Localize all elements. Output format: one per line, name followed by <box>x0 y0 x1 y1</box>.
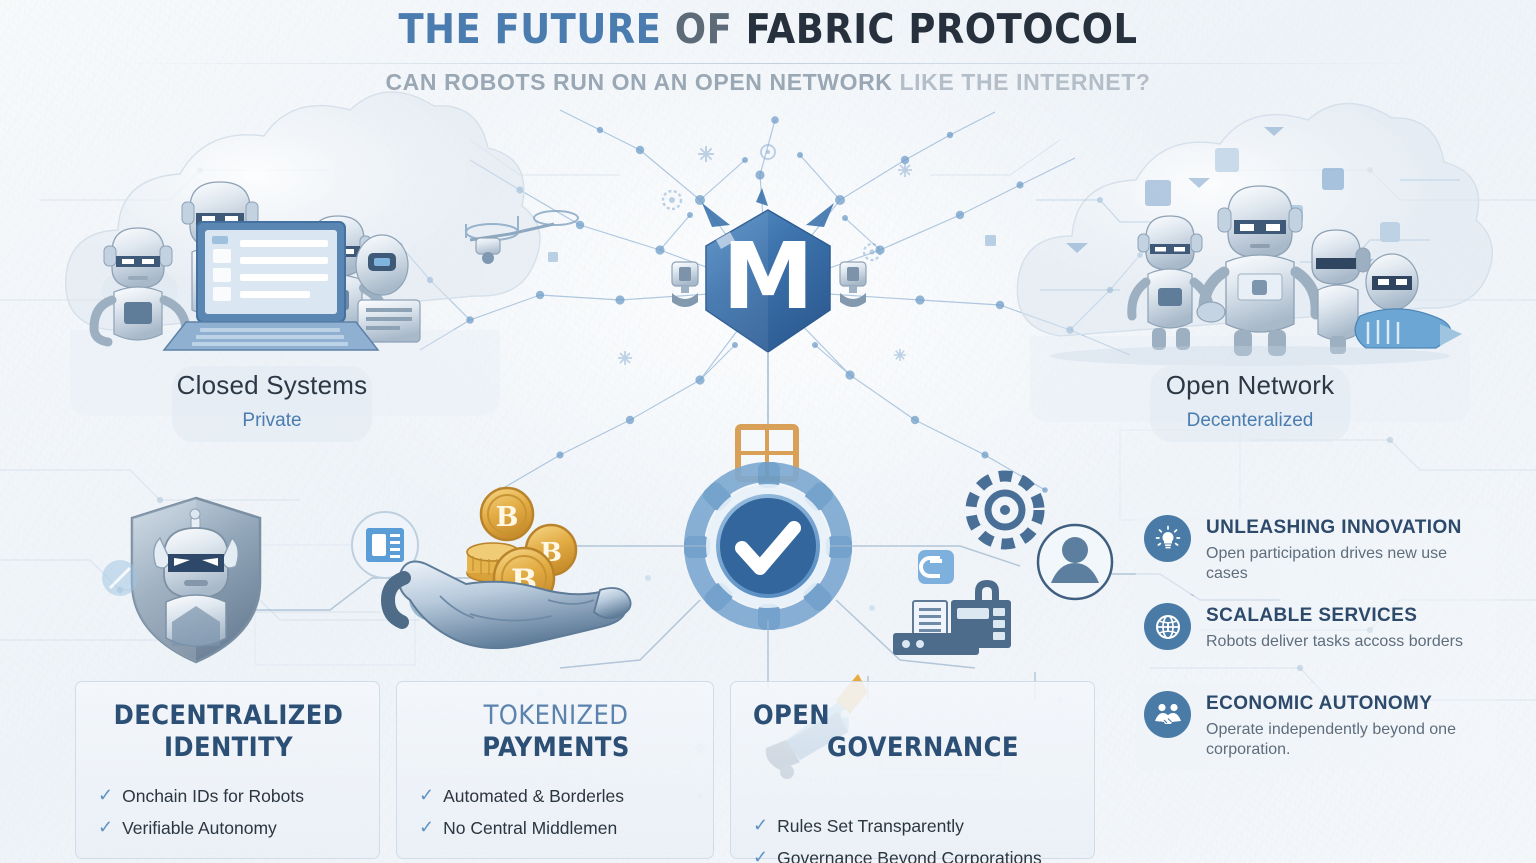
header: THE FUTURE OF FABRIC PROTOCOL CAN ROBOTS… <box>0 6 1536 96</box>
node-robot-right <box>840 262 866 307</box>
orange-window-grid-icon <box>738 427 796 479</box>
fabric-protocol-logo: M <box>702 188 834 352</box>
check-icon: ✓ <box>98 818 113 838</box>
bullet-text: Onchain IDs for Robots <box>122 786 304 807</box>
card-tokenized-payments[interactable]: TOKENIZED PAYMENTS ✓ Automated & Borderl… <box>396 681 714 859</box>
checkmark-icon <box>742 528 794 568</box>
subtitle-strong: CAN ROBOTS RUN ON AN OPEN NETWORK <box>385 69 892 95</box>
card-open-governance[interactable]: OPEN GOVERNANCE ✓ Rules Set Transparentl… <box>730 681 1095 859</box>
bullet-text: Rules Set Transparently <box>777 816 964 837</box>
feature-heading: ECONOMIC AUTONOMY <box>1206 693 1474 715</box>
server-briefcase-icon <box>893 580 1011 655</box>
title-part-of: OF <box>675 5 733 53</box>
bullet-text: No Central Middlemen <box>443 818 617 839</box>
feature-text: ECONOMIC AUTONOMY Operate independently … <box>1206 691 1474 761</box>
title-part-fabric: FABRIC PROTOCOL <box>746 5 1138 53</box>
contract-badge-icon <box>918 550 954 584</box>
header-divider <box>110 63 1426 64</box>
feature-description: Open participation drives new use cases <box>1206 544 1484 585</box>
list-item: ✓ No Central Middlemen <box>419 818 693 839</box>
page-title: THE FUTURE OF FABRIC PROTOCOL <box>0 6 1536 53</box>
card-title-light: DECENTRALIZED <box>114 700 344 731</box>
network-node-cluster-icon <box>971 476 1039 544</box>
card-title-bold: GOVERNANCE <box>827 732 1019 763</box>
subtitle-dim: LIKE THE INTERNET? <box>900 69 1151 95</box>
open-network-robots <box>1050 186 1462 366</box>
check-icon: ✓ <box>753 848 768 863</box>
title-part-future: THE FUTURE <box>398 5 661 53</box>
feature-economic-autonomy[interactable]: ECONOMIC AUTONOMY Operate independently … <box>1136 684 1496 770</box>
closed-systems-subtitle: Private <box>72 410 472 432</box>
card-heading: OPEN GOVERNANCE <box>753 700 1074 764</box>
svg-text:B: B <box>496 502 519 533</box>
node-robot-left <box>672 262 698 307</box>
list-item: ✓ Rules Set Transparently <box>753 816 1074 837</box>
svg-text:B: B <box>540 538 562 568</box>
card-bullets: ✓ Automated & Borderles ✓ No Central Mid… <box>419 786 693 839</box>
verified-gear-badge <box>649 427 887 665</box>
check-icon: ✓ <box>419 818 434 838</box>
page-subtitle: CAN ROBOTS RUN ON AN OPEN NETWORK LIKE T… <box>0 69 1536 96</box>
right-cloud-decor <box>1036 127 1460 290</box>
infographic-canvas: M <box>0 0 1536 863</box>
logo-letter: M <box>722 223 814 330</box>
bullet-text: Automated & Borderles <box>443 786 624 807</box>
list-item: ✓ Governance Beyond Corporations <box>753 848 1074 863</box>
globe-icon <box>1144 603 1191 650</box>
bullet-text: Verifiable Autonomy <box>122 818 277 839</box>
bullet-text: Governance Beyond Corporations <box>777 848 1042 863</box>
card-bullets: ✓ Rules Set Transparently ✓ Governance B… <box>753 816 1074 863</box>
center-network-nodes <box>397 116 1143 493</box>
card-title-bold: IDENTITY <box>164 732 293 763</box>
feature-heading: UNLEASHING INNOVATION <box>1206 517 1484 539</box>
lightbulb-icon <box>1144 515 1191 562</box>
drone-icon <box>466 211 578 264</box>
feature-heading: SCALABLE SERVICES <box>1206 605 1463 627</box>
check-icon: ✓ <box>419 786 434 806</box>
closed-systems-title: Closed Systems <box>72 370 472 401</box>
open-network-title: Open Network <box>1050 370 1450 401</box>
card-title-bold: PAYMENTS <box>482 732 630 763</box>
closed-systems-label: Closed Systems Private <box>72 370 472 432</box>
check-icon: ✓ <box>753 816 768 836</box>
svg-text:B: B <box>511 563 537 599</box>
card-title-light: TOKENIZED <box>484 700 629 731</box>
card-heading: TOKENIZED PAYMENTS <box>419 700 693 764</box>
feature-scalable-services[interactable]: SCALABLE SERVICES Robots deliver tasks a… <box>1136 596 1496 661</box>
id-chip-icon <box>352 512 418 578</box>
user-avatar-icon <box>1038 525 1112 599</box>
check-icon: ✓ <box>98 786 113 806</box>
feature-description: Operate independently beyond one corpora… <box>1206 720 1474 761</box>
card-heading: DECENTRALIZED IDENTITY <box>98 700 359 764</box>
feature-text: SCALABLE SERVICES Robots deliver tasks a… <box>1206 603 1463 652</box>
list-item: ✓ Automated & Borderles <box>419 786 693 807</box>
handshake-icon <box>1144 691 1191 738</box>
card-decentralized-identity[interactable]: DECENTRALIZED IDENTITY ✓ Onchain IDs for… <box>75 681 380 859</box>
feature-unleashing-innovation[interactable]: UNLEASHING INNOVATION Open participation… <box>1136 508 1496 594</box>
feature-text: UNLEASHING INNOVATION Open participation… <box>1206 515 1484 585</box>
feature-description: Robots deliver tasks accoss borders <box>1206 632 1463 652</box>
card-title-light: OPEN <box>753 700 830 731</box>
robot-hand-bitcoin-icon: B B B <box>388 488 631 648</box>
shield-robot-icon <box>132 498 260 662</box>
open-network-subtitle: Decenteralized <box>1050 410 1450 432</box>
open-network-label: Open Network Decenteralized <box>1050 370 1450 432</box>
closed-systems-robots <box>94 182 578 350</box>
laptop-icon <box>164 222 378 350</box>
card-bullets: ✓ Onchain IDs for Robots ✓ Verifiable Au… <box>98 786 359 839</box>
list-item: ✓ Verifiable Autonomy <box>98 818 359 839</box>
list-item: ✓ Onchain IDs for Robots <box>98 786 359 807</box>
center-network-lines <box>400 110 1140 490</box>
